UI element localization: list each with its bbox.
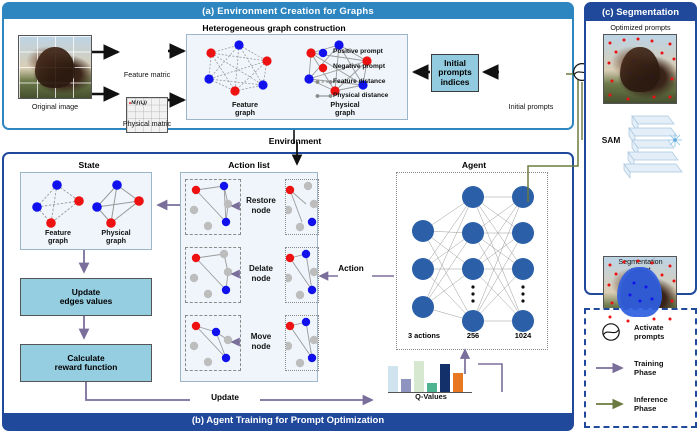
qvalue-bar — [440, 364, 450, 392]
update-edges-line-2: edges values — [60, 297, 113, 307]
panel-c-title: (c) Segmentation — [586, 4, 695, 21]
original-image — [18, 35, 92, 99]
action-row-move-after — [285, 315, 319, 371]
physical-matrix-caption: Physical matric — [114, 120, 180, 128]
action-label-restore-2: node — [237, 207, 285, 215]
legend-row-physical-distance: Physical distance — [315, 89, 407, 103]
calculate-reward-box: Calculate reward function — [20, 344, 152, 382]
legend-label-positive: Positive prompt — [333, 48, 383, 56]
arrow-prompts-into-activate — [556, 62, 576, 82]
nn-layer-label-2: 1024 — [501, 331, 545, 340]
legend-row-negative: Negative prompt — [315, 60, 407, 75]
legend-label-negative: Negative prompt — [333, 63, 385, 71]
training-phase-arrow-icon — [594, 358, 628, 378]
snowflake-center — [673, 138, 677, 142]
action-label-restore-1: Restore — [237, 197, 285, 205]
legend-item-training: Training Phase — [594, 358, 664, 378]
panel-segmentation: (c) Segmentation Optimized prompts — [584, 2, 697, 295]
feature-matrix-symbol: Mƒ(i,j) — [131, 100, 147, 106]
state-panel: Feature graph Physical graph — [20, 172, 152, 250]
legend-row-positive: Positive prompt — [315, 45, 407, 60]
segmentation-output-dots — [604, 257, 677, 326]
legend-label-physical-distance: Physical distance — [333, 92, 388, 100]
optimized-prompts-caption: Optimized prompts — [586, 24, 695, 32]
feature-graph-label-line2: graph — [187, 109, 303, 117]
action-label-delete-1: Delate — [237, 265, 285, 273]
inference-phase-arrow-icon — [594, 394, 628, 414]
legend-inference-line-1: Inference — [634, 395, 668, 404]
optimized-prompts-image — [603, 34, 677, 104]
state-feature-graph — [27, 177, 89, 229]
arrow-state-to-update-edges — [78, 250, 90, 278]
nn-layer-label-0: 3 actions — [393, 331, 455, 340]
optimized-prompt-dots — [604, 35, 677, 104]
qvalue-bar — [414, 361, 424, 392]
heterogeneous-graph-panel: Feature graph Physical graph Positive pr… — [186, 34, 408, 120]
action-label-delete-2: node — [237, 275, 285, 283]
state-physical-graph — [87, 177, 149, 229]
action-list-panel: Restore node Delate node — [180, 172, 318, 382]
legend-label-feature-distance: Feature distance — [333, 78, 385, 86]
state-title: State — [34, 160, 144, 170]
legend-item-inference: Inference Phase — [594, 394, 668, 414]
graph-legend: Positive prompt Negative prompt Feature … — [315, 45, 407, 103]
feature-graph-diagram — [193, 39, 297, 101]
sam-block: SAM — [596, 110, 691, 182]
physical-distance-icon — [315, 91, 333, 101]
legend-inference-line-2: Phase — [634, 404, 668, 413]
arrow-action-right — [372, 270, 396, 282]
phase-legend: Activate prompts Training Phase Inferenc… — [584, 308, 697, 428]
positive-prompt-icon — [315, 47, 333, 59]
negative-prompt-icon — [315, 62, 333, 74]
action-label-move-2: node — [237, 343, 285, 351]
segmentation-output-image — [603, 256, 677, 326]
action-arrow-label: Action — [326, 264, 376, 273]
action-row-restore-after — [285, 179, 319, 235]
indices-line-3: indices — [441, 78, 470, 88]
legend-training-line-1: Training — [634, 359, 664, 368]
update-edges-values-box: Update edges values — [20, 278, 152, 316]
feature-distance-icon — [315, 77, 333, 87]
qvalues-label: Q-Values — [388, 392, 474, 401]
image-grid-overlay — [19, 36, 91, 98]
panel-a-title: (a) Environment Creation for Graphs — [4, 4, 572, 19]
original-image-caption: Original image — [10, 103, 100, 111]
arrow-update-edges-to-reward — [78, 316, 90, 344]
sam-label: SAM — [596, 136, 626, 144]
restore-after-graph — [286, 180, 319, 234]
arrow-move-in — [231, 337, 241, 347]
arrow-qvalues-to-agent — [474, 350, 506, 396]
move-after-graph — [286, 316, 319, 370]
legend-activate-line-2: prompts — [634, 332, 664, 341]
state-physical-graph-label-2: graph — [79, 237, 153, 245]
nn-layer-label-1: 256 — [451, 331, 495, 340]
calculate-reward-line-2: reward function — [55, 363, 118, 373]
qvalue-bar — [388, 366, 398, 392]
qvalue-bar — [401, 379, 411, 392]
arrow-environment-to-actionlist — [290, 142, 304, 170]
arrow-delete-in — [231, 269, 241, 279]
panel-b-title: (b) Agent Training for Prompt Optimizati… — [4, 413, 572, 429]
arrow-indices-to-graphs — [408, 66, 432, 80]
legend-training-line-2: Phase — [634, 368, 664, 377]
sam-stack-icon — [596, 110, 691, 182]
action-label-move-1: Move — [237, 333, 285, 341]
legend-row-feature-distance: Feature distance — [315, 75, 407, 89]
update-arrow-label: Update — [190, 393, 260, 402]
arrow-qvalues-up — [456, 346, 474, 376]
delete-after-graph — [286, 248, 319, 302]
arrow-restore-in — [231, 201, 241, 211]
inference-path-agent-to-activate — [470, 66, 590, 206]
physical-graph-label-line2: graph — [287, 109, 403, 117]
action-row-delete-after — [285, 247, 319, 303]
qvalue-bar — [427, 383, 437, 392]
heterogeneous-graph-subtitle: Heterogeneous graph construction — [144, 23, 404, 33]
